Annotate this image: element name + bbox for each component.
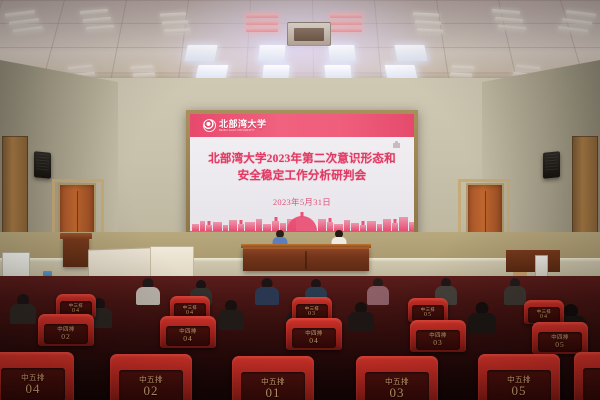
seat-back-plate: 中四排 04 [292, 328, 336, 348]
lectern [63, 237, 89, 267]
seat-back-plate: 中三排 04 [528, 307, 559, 322]
attendee [468, 302, 496, 332]
skyline-building [409, 222, 414, 231]
seat-back-plate: 中五排 05 [487, 370, 551, 400]
torso [10, 304, 36, 324]
seat-number: 02 [143, 384, 158, 398]
skyline-building [383, 219, 391, 231]
ceiling-light [330, 28, 362, 32]
university-seal-icon [203, 119, 216, 132]
skyline-building [367, 221, 376, 231]
seat-number: 04 [25, 382, 40, 396]
ceiling-light [394, 45, 427, 61]
torso [504, 286, 526, 305]
skyline-building [318, 219, 326, 231]
seat-number: 05 [511, 384, 526, 398]
seat-number: 04 [540, 314, 548, 321]
projection-screen: 北部湾大学 BEIBU GULF UNIVERSITY 北部湾大学2023年第二… [190, 114, 414, 234]
seat-number: 03 [389, 386, 404, 400]
slide-corner-mark-icon [393, 141, 400, 148]
projection-screen-frame: 北部湾大学 BEIBU GULF UNIVERSITY 北部湾大学2023年第二… [186, 110, 418, 238]
attendee [136, 278, 160, 304]
seat-number: 05 [424, 312, 432, 319]
head-table [243, 247, 369, 271]
ceiling-light [184, 45, 217, 61]
seat[interactable]: 中五排 05 [478, 354, 560, 400]
torso [348, 312, 374, 332]
seat[interactable]: 中四排 02 [38, 314, 94, 346]
ceiling-ac-vent [287, 22, 331, 46]
seat-back-plate: 中四排 04 [166, 326, 210, 346]
skyline-building [192, 224, 199, 231]
skyline-building [399, 217, 408, 231]
ceiling [0, 0, 600, 86]
wall-speaker-icon [543, 151, 560, 178]
seat-back-plate: 中五排 02 [583, 368, 600, 400]
attendee [367, 278, 389, 304]
seat-back-plate: 中五排 01 [241, 372, 305, 400]
slide-title: 北部湾大学2023年第二次意识形态和 安全稳定工作分析研判会 [200, 151, 404, 185]
skyline-building [245, 222, 255, 231]
seat-number: 03 [308, 311, 316, 318]
ceiling-light [246, 28, 278, 32]
ceiling-light [330, 21, 362, 25]
slide-body: 北部湾大学2023年第二次意识形态和 安全稳定工作分析研判会 2023年5月31… [190, 137, 414, 234]
ceiling-light [330, 14, 362, 18]
ceiling-light [246, 14, 278, 18]
side-cabinet [506, 250, 560, 272]
wall-speaker-icon [34, 151, 51, 178]
whiteboard [2, 252, 30, 278]
slide-skyline-graphic [190, 212, 414, 234]
attendee [255, 278, 279, 304]
skyline-building [377, 224, 382, 231]
seat[interactable]: 中四排 05 [532, 322, 588, 354]
ceiling-light [385, 65, 418, 79]
skyline-building [238, 224, 244, 231]
seat-number: 03 [433, 339, 443, 347]
slide-header-band: 北部湾大学 BEIBU GULF UNIVERSITY [190, 114, 414, 137]
audience-area: 中三排 04 中三排 04 中三排 03 中三排 05 中三排 [0, 276, 600, 400]
seat-back-plate: 中五排 03 [365, 372, 429, 400]
skyline-building [263, 224, 271, 231]
slide-title-line-1: 北部湾大学2023年第二次意识形态和 [208, 151, 396, 168]
ceiling-light [262, 65, 289, 79]
skyline-building [229, 220, 237, 231]
seat-back-plate: 中三排 05 [412, 305, 443, 320]
seat[interactable]: 中三排 05 [408, 298, 448, 322]
seat-back-plate: 中四排 02 [44, 324, 88, 344]
skyline-building [200, 221, 205, 231]
torso [218, 310, 244, 330]
torso [136, 287, 160, 305]
skyline-building [351, 223, 359, 231]
attendee [504, 278, 526, 304]
seat-back-plate: 中五排 04 [1, 368, 65, 400]
conference-hall-photo: 北部湾大学 BEIBU GULF UNIVERSITY 北部湾大学2023年第二… [0, 0, 600, 400]
seat[interactable]: 中四排 04 [160, 316, 216, 348]
slide-title-line-2: 安全稳定工作分析研判会 [208, 168, 396, 185]
seat[interactable]: 中五排 02 [110, 354, 192, 400]
seat[interactable]: 中四排 04 [286, 318, 342, 350]
seat[interactable]: 中四排 03 [410, 320, 466, 352]
seat[interactable]: 中五排 04 [0, 352, 74, 400]
attendee [348, 302, 374, 330]
seat-number: 04 [183, 335, 193, 343]
torso [255, 287, 279, 305]
logo-wordmark: 北部湾大学 [219, 120, 267, 129]
attendee [10, 294, 36, 322]
skyline-building [256, 219, 262, 231]
ceiling-light [324, 65, 351, 79]
ceiling-light [328, 45, 355, 61]
seat-number: 05 [555, 341, 565, 349]
ceiling-light [246, 21, 278, 25]
university-logo: 北部湾大学 BEIBU GULF UNIVERSITY [203, 119, 267, 132]
seat[interactable]: 中五排 02 [574, 352, 600, 400]
skyline-building [213, 222, 222, 231]
attendee [218, 300, 244, 328]
seat-number: 01 [265, 386, 280, 400]
ceiling-light [258, 45, 285, 61]
seat[interactable]: 中五排 03 [356, 356, 438, 400]
ceiling-light [196, 65, 229, 79]
seat[interactable]: 中五排 01 [232, 356, 314, 400]
skyline-building [392, 223, 398, 231]
seat-back-plate: 中五排 02 [119, 370, 183, 400]
seat-back-plate: 中四排 03 [416, 330, 460, 350]
seat-number: 02 [61, 333, 71, 341]
seat-back-plate: 中四排 05 [538, 332, 582, 352]
seat-number: 04 [309, 337, 319, 345]
seat[interactable]: 中三排 04 [524, 300, 564, 324]
slide-date: 2023年5月31日 [273, 196, 331, 208]
torso [468, 313, 496, 334]
